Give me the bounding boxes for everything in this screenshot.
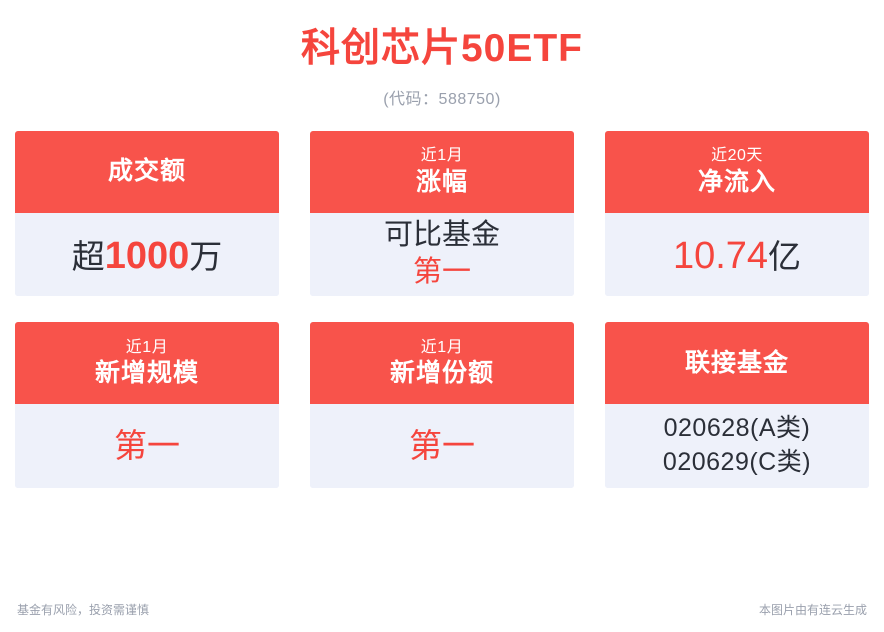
new-scale-value: 第一 <box>114 425 180 466</box>
stat-card-netinflow-header: 近20天 净流入 <box>605 131 869 213</box>
stat-card-netinflow-value: 10.74亿 <box>673 230 801 278</box>
stat-card-gain-body: 可比基金 第一 <box>310 213 574 296</box>
stat-card-new-scale-body: 第一 <box>15 404 279 487</box>
page-title: 科创芯片50ETF <box>0 0 884 73</box>
turnover-prefix: 超 <box>72 238 105 275</box>
stat-card-feeder-fund-header: 联接基金 <box>605 322 869 404</box>
footer-attribution: 本图片由有连云生成 <box>759 601 867 618</box>
stat-card-new-shares-header: 近1月 新增份额 <box>310 322 574 404</box>
stat-card-new-scale: 近1月 新增规模 第一 <box>15 322 279 487</box>
stat-card-new-shares-title: 新增份额 <box>390 358 494 389</box>
turnover-unit: 万 <box>189 238 222 275</box>
stat-card-turnover-value: 超1000万 <box>72 230 223 278</box>
stat-card-new-scale-period: 近1月 <box>126 337 168 359</box>
stat-card-turnover: 成交额 超1000万 <box>15 131 279 296</box>
stat-card-gain-header: 近1月 涨幅 <box>310 131 574 213</box>
stat-card-new-scale-header: 近1月 新增规模 <box>15 322 279 404</box>
footer: 基金有风险，投资需谨慎 本图片由有连云生成 <box>0 601 884 618</box>
stat-card-turnover-title: 成交额 <box>108 156 186 187</box>
stat-card-new-shares-period: 近1月 <box>421 337 463 359</box>
stat-card-new-scale-title: 新增规模 <box>95 358 199 389</box>
stat-card-turnover-body: 超1000万 <box>15 213 279 296</box>
netinflow-unit: 亿 <box>768 238 801 275</box>
stat-card-gain-period: 近1月 <box>421 145 463 167</box>
stat-card-feeder-fund-body: 020628(A类) 020629(C类) <box>605 404 869 487</box>
turnover-number: 1000 <box>105 235 190 277</box>
stat-card-feeder-fund-title: 联接基金 <box>685 348 789 379</box>
stat-card-new-shares: 近1月 新增份额 第一 <box>310 322 574 487</box>
fund-code-subtitle: (代码：588750) <box>0 85 884 109</box>
stat-card-new-shares-body: 第一 <box>310 404 574 487</box>
stat-card-gain-title: 涨幅 <box>416 167 468 198</box>
infographic-page: 科创芯片50ETF (代码：588750) 成交额 超1000万 近1月 涨幅 … <box>0 0 884 632</box>
stat-card-netinflow: 近20天 净流入 10.74亿 <box>605 131 869 296</box>
stat-card-feeder-fund: 联接基金 020628(A类) 020629(C类) <box>605 322 869 487</box>
stats-grid: 成交额 超1000万 近1月 涨幅 可比基金 第一 近20天 净流入 <box>0 131 884 488</box>
stat-card-netinflow-body: 10.74亿 <box>605 213 869 296</box>
new-shares-value: 第一 <box>409 425 475 466</box>
gain-line-1: 可比基金 <box>384 217 500 255</box>
netinflow-number: 10.74 <box>673 235 768 277</box>
stat-card-gain: 近1月 涨幅 可比基金 第一 <box>310 131 574 296</box>
feeder-fund-code-c: 020629(C类) <box>663 446 811 480</box>
gain-line-2: 第一 <box>413 254 471 292</box>
stat-card-netinflow-period: 近20天 <box>711 145 763 167</box>
stat-card-turnover-header: 成交额 <box>15 131 279 213</box>
stat-card-netinflow-title: 净流入 <box>698 167 776 198</box>
feeder-fund-code-a: 020628(A类) <box>664 412 811 446</box>
footer-disclaimer: 基金有风险，投资需谨慎 <box>17 601 149 618</box>
